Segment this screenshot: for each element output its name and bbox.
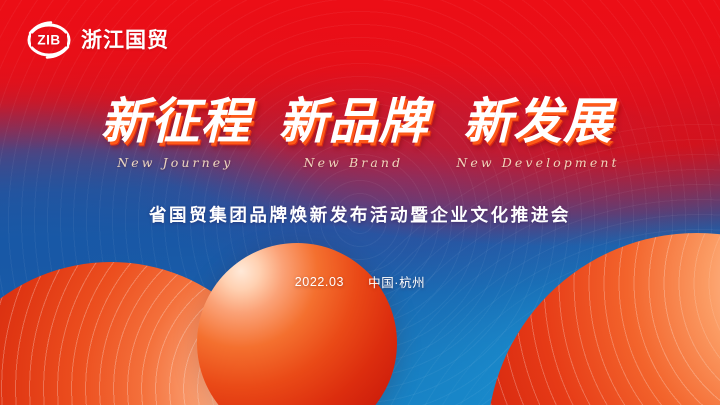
event-meta: 2022.03 中国·杭州 [0,272,720,291]
main-title: 新征程 New Journey 新品牌 New Brand 新发展 New De… [0,97,720,170]
event-location: 中国·杭州 [368,272,425,291]
title-en-2: New Brand [278,155,428,170]
title-group-1: 新征程 New Journey [100,97,250,170]
brand-logo: ZIB 浙江国贸 [26,20,169,60]
poster-canvas: ZIB 浙江国贸 新征程 New Journey 新品牌 New Brand 新… [0,0,720,405]
brand-company-name: 浙江国贸 [81,30,169,51]
event-subtitle: 省国贸集团品牌焕新发布活动暨企业文化推进会 [0,202,720,227]
title-cn-3: 新发展 [456,97,619,148]
zib-circle-logo-icon: ZIB [26,20,72,60]
title-group-2: 新品牌 New Brand [278,97,428,170]
title-en-1: New Journey [100,155,250,170]
title-group-3: 新发展 New Development [456,97,619,170]
title-cn-2: 新品牌 [278,97,428,148]
title-en-3: New Development [456,155,619,170]
svg-text:ZIB: ZIB [37,33,60,48]
event-date: 2022.03 [295,275,344,289]
title-cn-1: 新征程 [100,97,250,148]
